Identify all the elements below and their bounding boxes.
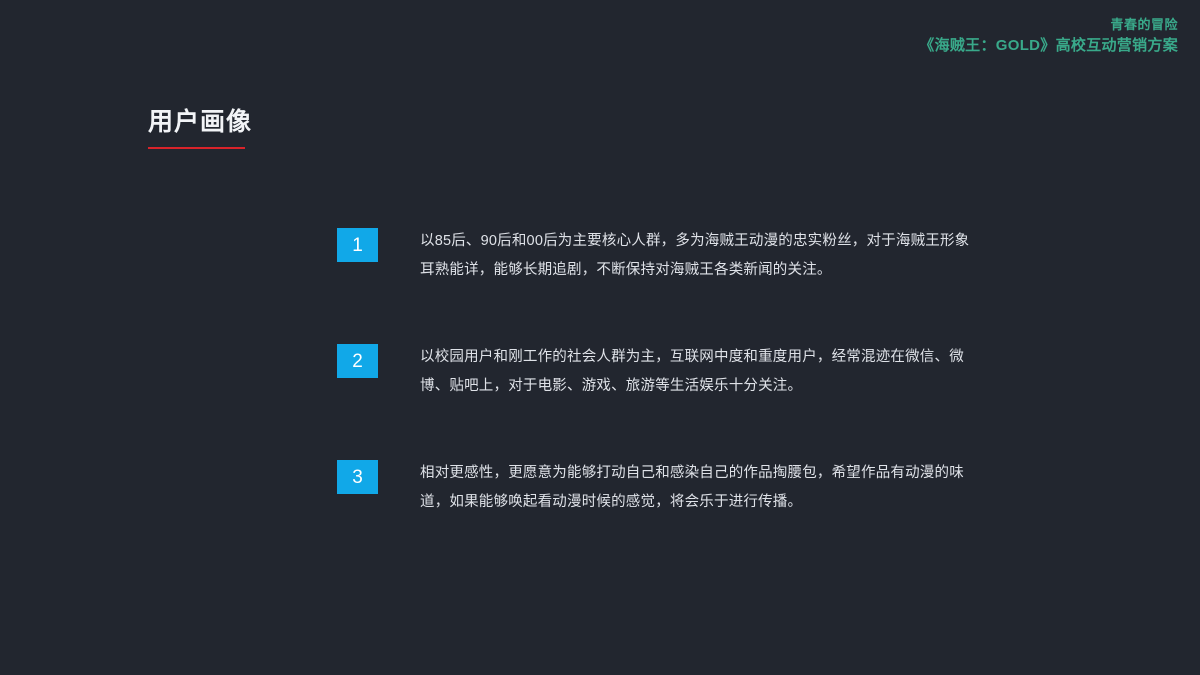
list-item: 1 以85后、90后和00后为主要核心人群，多为海贼王动漫的忠实粉丝，对于海贼王… (337, 227, 997, 285)
persona-number-badge-3: 3 (337, 460, 378, 494)
persona-description-2: 以校园用户和刚工作的社会人群为主，互联网中度和重度用户，经常混迹在微信、微博、贴… (420, 343, 982, 401)
title-block: 用户画像 (148, 108, 252, 149)
persona-description-3: 相对更感性，更愿意为能够打动自己和感染自己的作品掏腰包，希望作品有动漫的味道，如… (420, 459, 982, 517)
persona-number-badge-1: 1 (337, 228, 378, 262)
list-item: 3 相对更感性，更愿意为能够打动自己和感染自己的作品掏腰包，希望作品有动漫的味道… (337, 459, 997, 517)
presentation-slide: 青春的冒险 《海贼王：GOLD》高校互动营销方案 用户画像 1 以85后、90后… (0, 0, 1200, 675)
slide-header: 青春的冒险 《海贼王：GOLD》高校互动营销方案 (919, 16, 1178, 57)
persona-description-1: 以85后、90后和00后为主要核心人群，多为海贼王动漫的忠实粉丝，对于海贼王形象… (420, 227, 982, 285)
header-campaign-tagline: 青春的冒险 (919, 16, 1178, 35)
persona-list: 1 以85后、90后和00后为主要核心人群，多为海贼王动漫的忠实粉丝，对于海贼王… (337, 227, 997, 517)
title-underline-rule (148, 147, 245, 149)
persona-number-badge-2: 2 (337, 344, 378, 378)
list-item: 2 以校园用户和刚工作的社会人群为主，互联网中度和重度用户，经常混迹在微信、微博… (337, 343, 997, 401)
page-title: 用户画像 (148, 108, 252, 137)
header-project-title: 《海贼王：GOLD》高校互动营销方案 (919, 35, 1178, 57)
